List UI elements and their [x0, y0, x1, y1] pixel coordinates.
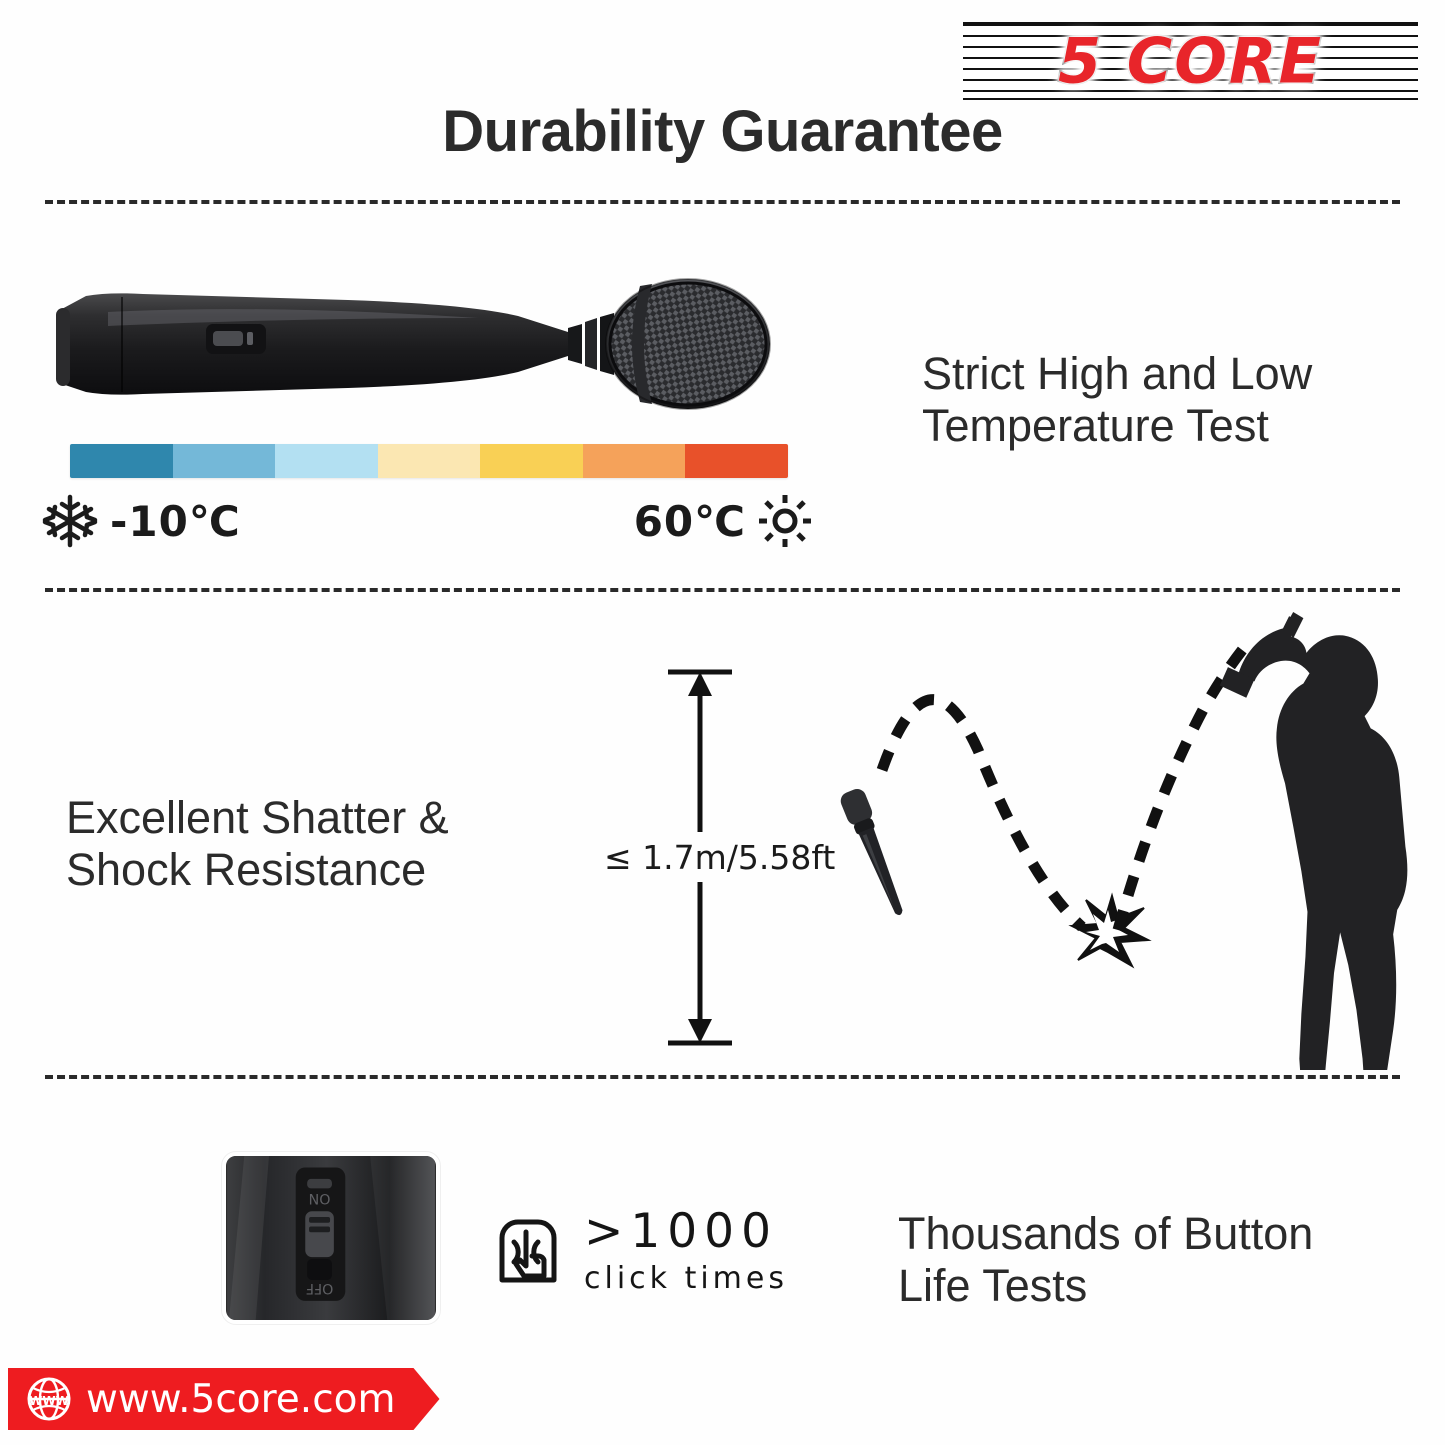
min-temperature-group: -10℃	[42, 493, 241, 549]
www-globe-icon: WWW	[26, 1376, 72, 1422]
temp-segment-2	[173, 444, 276, 478]
website-banner[interactable]: WWW www.5core.com	[8, 1368, 440, 1430]
microphone-product-image	[48, 272, 788, 422]
section-divider-3	[45, 1075, 1400, 1079]
falling-microphone	[838, 786, 912, 920]
temp-segment-3	[275, 444, 378, 478]
temperature-test-heading: Strict High and Low Temperature Test	[922, 348, 1412, 452]
temp-segment-6	[583, 444, 686, 478]
temperature-gradient-bar	[70, 444, 788, 478]
max-temperature-group: 60℃	[634, 494, 812, 548]
temperature-heading-line-1: Strict High and Low	[922, 348, 1412, 400]
switch-closeup-image: ON OFF	[222, 1152, 440, 1324]
tap-press-icon	[488, 1212, 568, 1292]
temp-segment-5	[480, 444, 583, 478]
temp-segment-4	[378, 444, 481, 478]
button-life-heading: Thousands of Button Life Tests	[898, 1208, 1398, 1312]
click-count-value: >1000	[584, 1208, 788, 1255]
brand-logo: 5 CORE	[963, 22, 1418, 100]
infographic-page: 5 CORE Durability Guarantee	[0, 0, 1445, 1445]
snowflake-icon	[42, 493, 98, 549]
click-times-caption: click times	[584, 1261, 788, 1296]
svg-text:ON: ON	[309, 1190, 331, 1206]
page-title: Durability Guarantee	[0, 98, 1445, 165]
logo-text: 5 CORE	[963, 25, 1418, 98]
temperature-heading-line-2: Temperature Test	[922, 400, 1412, 452]
temp-segment-1	[70, 444, 173, 478]
section-divider-2	[45, 588, 1400, 592]
impact-starburst	[1072, 896, 1148, 966]
temp-segment-7	[685, 444, 788, 478]
min-temperature-value: -10℃	[110, 497, 241, 546]
shock-heading-line-1: Excellent Shatter &	[66, 792, 586, 844]
shock-resistance-heading: Excellent Shatter & Shock Resistance	[66, 792, 586, 896]
singer-silhouette	[1220, 612, 1408, 1070]
website-url: www.5core.com	[86, 1377, 396, 1422]
shock-heading-line-2: Shock Resistance	[66, 844, 586, 896]
max-temperature-value: 60℃	[634, 497, 746, 546]
temperature-labels: -10℃ 60℃	[42, 492, 812, 550]
drop-bounce-illustration	[800, 600, 1420, 1070]
svg-text:WWW: WWW	[29, 1394, 69, 1408]
button-life-heading-line-2: Life Tests	[898, 1260, 1398, 1312]
button-life-heading-line-1: Thousands of Button	[898, 1208, 1398, 1260]
section-divider-1	[45, 200, 1400, 204]
sun-icon	[758, 494, 812, 548]
trajectory-arc-1	[882, 700, 1082, 927]
svg-text:OFF: OFF	[306, 1280, 334, 1296]
click-text-block: >1000 click times	[584, 1208, 788, 1296]
click-rating-group: >1000 click times	[488, 1208, 788, 1296]
